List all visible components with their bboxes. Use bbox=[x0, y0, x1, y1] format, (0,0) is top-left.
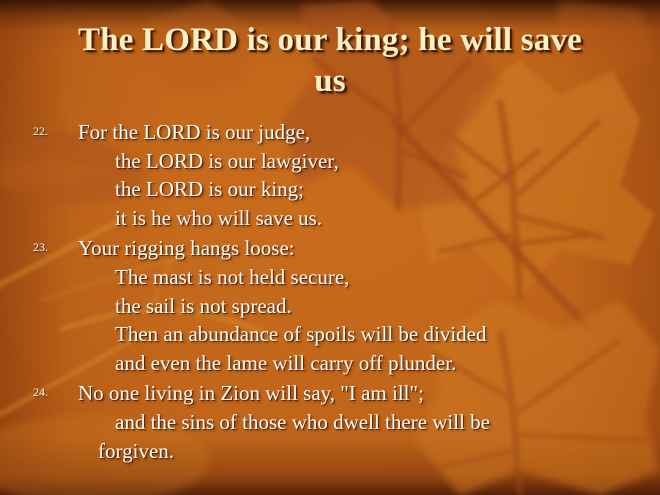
verse-lines: Your rigging hangs loose: The mast is no… bbox=[0, 234, 660, 377]
verse-line: the sail is not spread. bbox=[78, 292, 660, 321]
verse-block: 24. No one living in Zion will say, "I a… bbox=[0, 379, 660, 465]
verse-number: 23. bbox=[33, 241, 48, 253]
verse-line: No one living in Zion will say, "I am il… bbox=[78, 379, 660, 408]
verse-number: 24. bbox=[33, 386, 48, 398]
verse-line: the LORD is our lawgiver, bbox=[78, 147, 660, 176]
verse-lines: For the LORD is our judge, the LORD is o… bbox=[0, 118, 660, 232]
verse-block: 23. Your rigging hangs loose: The mast i… bbox=[0, 234, 660, 377]
verse-lines: No one living in Zion will say, "I am il… bbox=[0, 379, 660, 465]
title-line-2: us bbox=[30, 61, 630, 102]
verse-line: it is he who will save us. bbox=[78, 204, 660, 233]
verse-number: 22. bbox=[33, 125, 48, 137]
verse-line: and the sins of those who dwell there wi… bbox=[78, 408, 660, 437]
presentation-slide: The LORD is our king; he will save us 22… bbox=[0, 0, 660, 495]
verse-line: The mast is not held secure, bbox=[78, 263, 660, 292]
title-line-1: The LORD is our king; he will save bbox=[30, 20, 630, 61]
slide-title: The LORD is our king; he will save us bbox=[30, 20, 630, 102]
verse-line: and even the lame will carry off plunder… bbox=[78, 349, 660, 378]
verse-line: For the LORD is our judge, bbox=[78, 118, 660, 147]
slide-body: 22. For the LORD is our judge, the LORD … bbox=[0, 118, 660, 467]
verse-block: 22. For the LORD is our judge, the LORD … bbox=[0, 118, 660, 232]
verse-line: Then an abundance of spoils will be divi… bbox=[78, 320, 660, 349]
verse-line: the LORD is our king; bbox=[78, 175, 660, 204]
verse-line: forgiven. bbox=[78, 437, 660, 466]
verse-line: Your rigging hangs loose: bbox=[78, 234, 660, 263]
